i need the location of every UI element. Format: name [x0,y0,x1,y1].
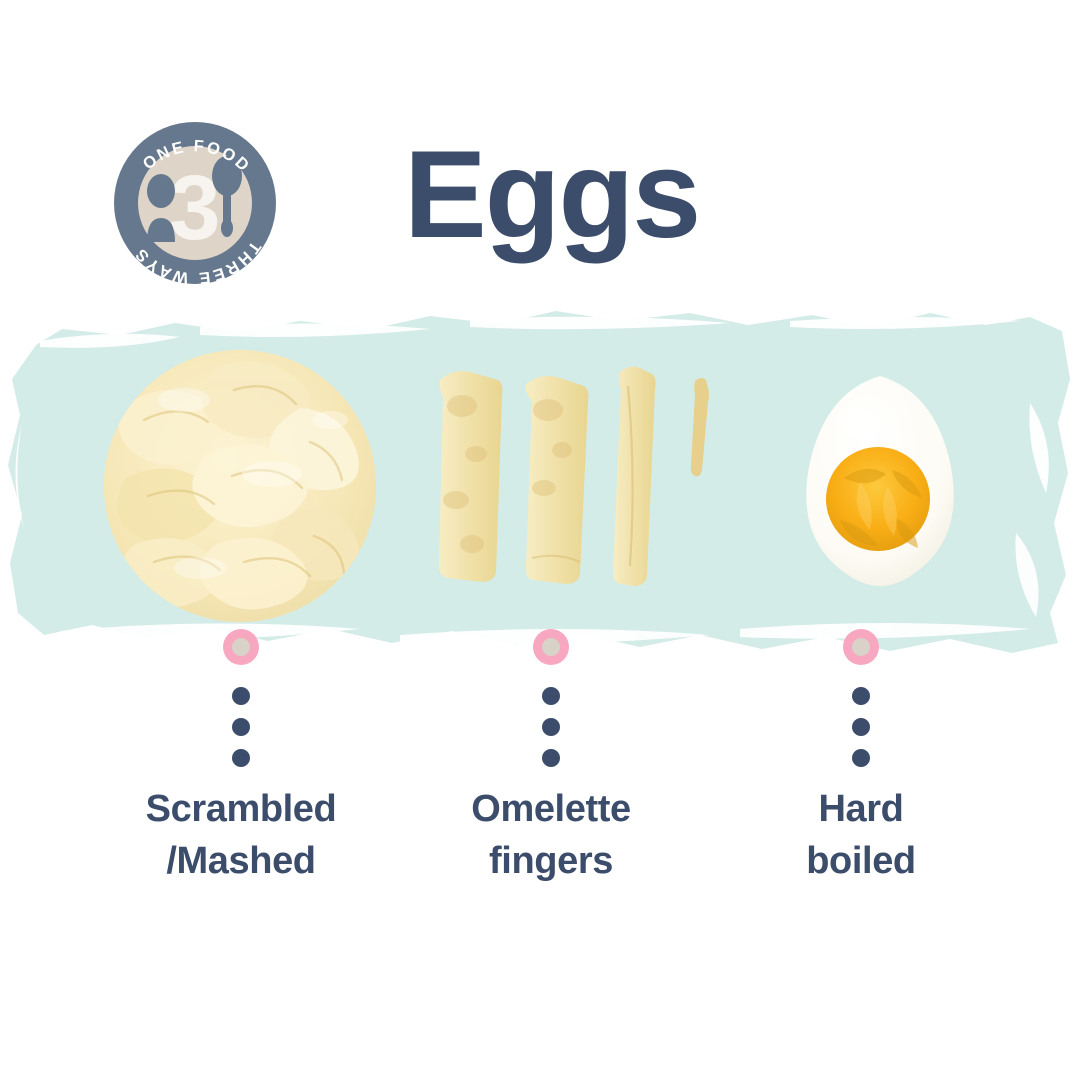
connector-dot [542,718,560,736]
connector-dot [852,749,870,767]
omelette-strip [613,367,656,586]
connector-dot [232,687,250,705]
scrambled-eggs-photo [104,350,376,622]
food-images-layer [0,0,1080,1080]
infographic-canvas: 3 ONE FOOD THREE WAYS Eggs [0,0,1080,1080]
connector-dot [232,749,250,767]
pink-marker-dot[interactable] [223,629,259,665]
connector-dot [232,718,250,736]
caption-hard-boiled: Hard boiled [711,784,1011,887]
omelette-strip [691,378,709,476]
pink-marker-core [852,638,870,656]
connector-dot [852,687,870,705]
hard-boiled-egg-photo [800,370,960,590]
connector-dot [852,718,870,736]
omelette-strip [526,376,589,584]
pink-marker-core [542,638,560,656]
connector-dot [542,749,560,767]
pink-marker-dot[interactable] [843,629,879,665]
pink-marker-core [232,638,250,656]
omelette-fingers-photo [428,358,724,596]
connector-dot [542,687,560,705]
omelette-strip [439,371,503,582]
pink-marker-dot[interactable] [533,629,569,665]
caption-scrambled: Scrambled /Mashed [91,784,391,887]
caption-omelette: Omelette fingers [401,784,701,887]
